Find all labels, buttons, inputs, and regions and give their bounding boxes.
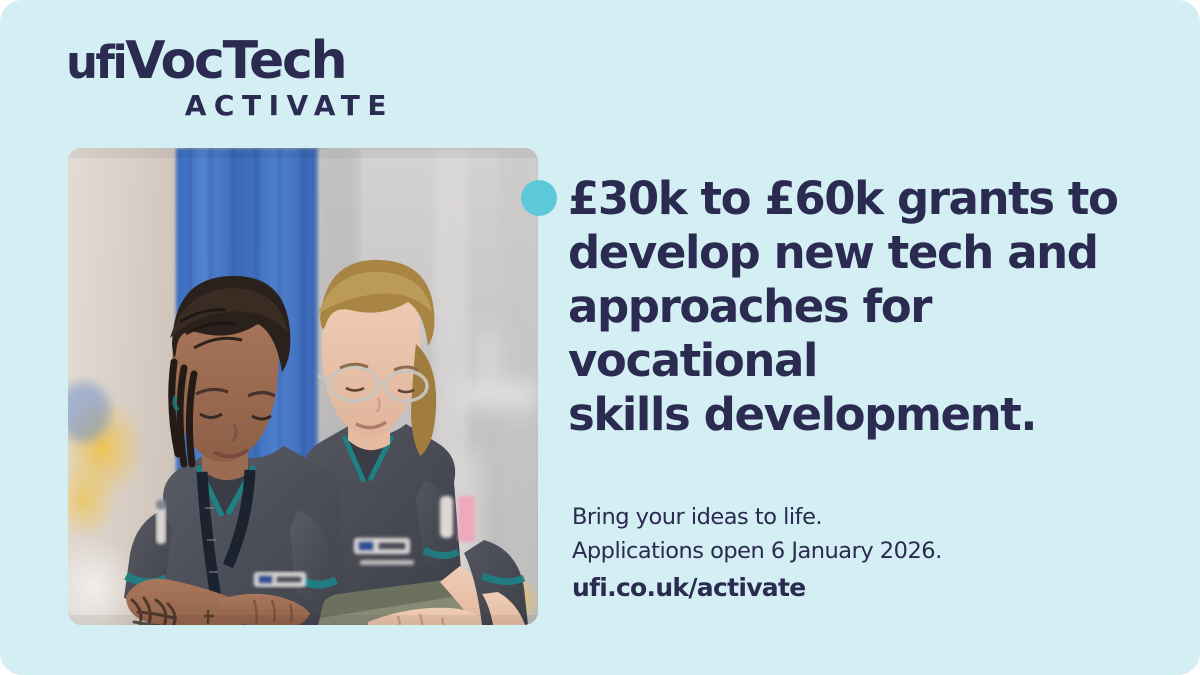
headline-line-1: £30k to £60k grants to xyxy=(568,172,1168,226)
logo-wordmark: ufiVocTech xyxy=(66,36,396,88)
headline-line-4: skills development. xyxy=(568,388,1168,442)
cta-applications-date: Applications open 6 January 2026. xyxy=(572,534,1152,568)
headline: £30k to £60k grants to develop new tech … xyxy=(568,172,1168,442)
logo-programme-activate: ACTIVATE xyxy=(66,89,396,123)
ufi-voctech-activate-logo: ufiVocTech ACTIVATE xyxy=(66,36,396,123)
headline-line-3: approaches for vocational xyxy=(568,280,1168,388)
teal-accent-dot xyxy=(521,180,557,216)
promo-banner: ufiVocTech ACTIVATE xyxy=(0,0,1200,675)
headline-line-2: develop new tech and xyxy=(568,226,1168,280)
cta-url[interactable]: ufi.co.uk/activate xyxy=(572,571,1152,605)
hero-photo xyxy=(68,148,538,625)
call-to-action-block: Bring your ideas to life. Applications o… xyxy=(572,500,1152,605)
logo-brand-ufi: ufi xyxy=(66,36,125,89)
cta-tagline: Bring your ideas to life. xyxy=(572,500,1152,534)
logo-product-voctech: VocTech xyxy=(125,31,345,91)
